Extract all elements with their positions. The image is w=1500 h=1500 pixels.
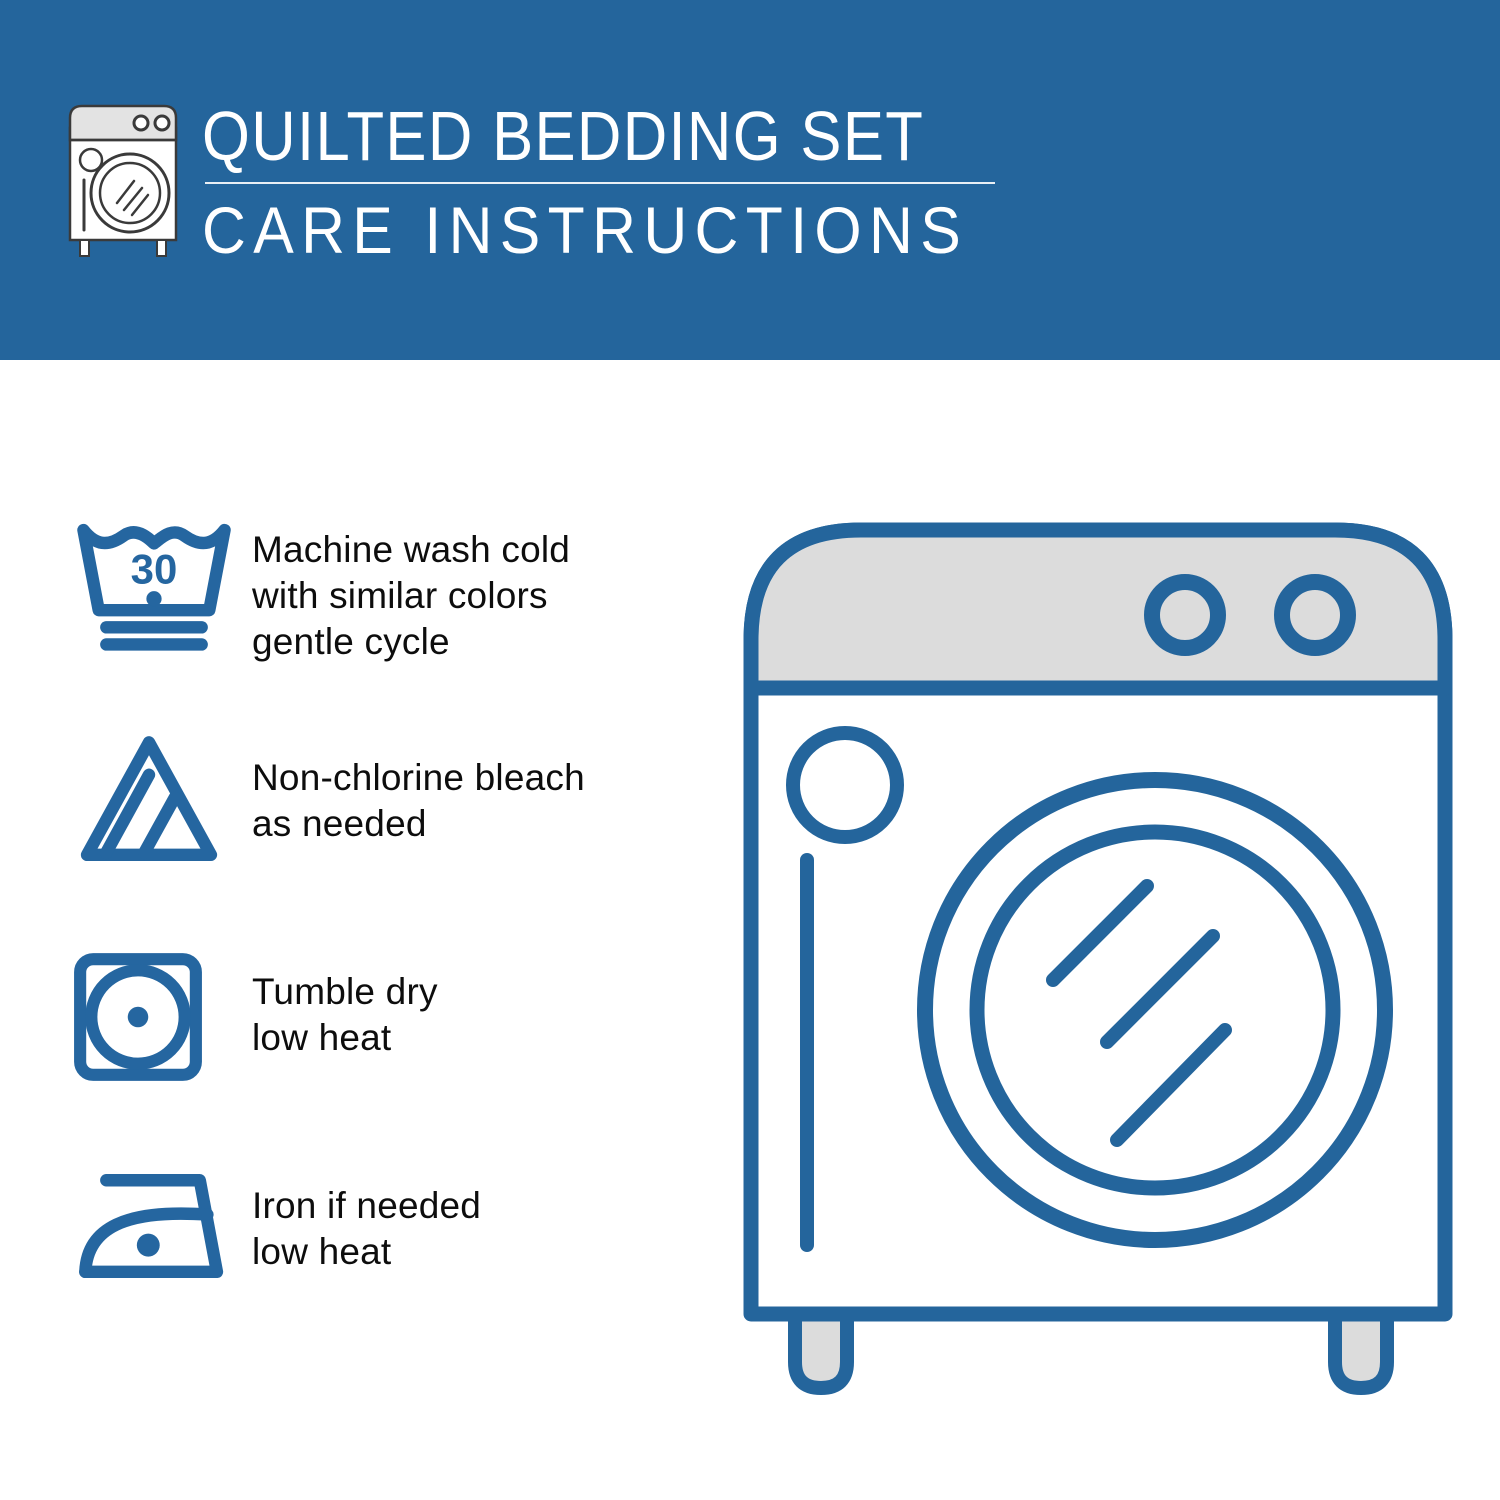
label-line: Non-chlorine bleach bbox=[252, 755, 585, 801]
care-instruction-list: 30 Machine wash cold with similar colors… bbox=[68, 505, 708, 1377]
detergent-port bbox=[793, 733, 897, 837]
washing-machine-icon bbox=[62, 96, 184, 264]
label-line: low heat bbox=[252, 1015, 438, 1061]
list-item: 30 Machine wash cold with similar colors… bbox=[68, 505, 708, 723]
non-chlorine-bleach-triangle-icon bbox=[68, 723, 246, 872]
header-banner: QUILTED BEDDING SET CARE INSTRUCTIONS bbox=[0, 0, 1500, 360]
wash-tub-30-icon: 30 bbox=[68, 505, 246, 654]
title-divider bbox=[205, 182, 995, 184]
tumble-dry-low-icon bbox=[68, 941, 246, 1087]
list-item-label: Machine wash cold with similar colors ge… bbox=[246, 505, 570, 665]
control-knob bbox=[1282, 582, 1348, 648]
header-title-group: QUILTED BEDDING SET CARE INSTRUCTIONS bbox=[202, 96, 1035, 266]
label-line: Machine wash cold bbox=[252, 527, 570, 573]
label-line: low heat bbox=[252, 1229, 481, 1275]
label-line: Iron if needed bbox=[252, 1183, 481, 1229]
wash-temperature-label: 30 bbox=[131, 545, 178, 592]
list-item-label: Iron if needed low heat bbox=[246, 1159, 481, 1275]
label-line: gentle cycle bbox=[252, 619, 570, 665]
iron-low-heat-icon bbox=[68, 1159, 246, 1289]
washing-machine-illustration bbox=[735, 490, 1465, 1420]
list-item: Iron if needed low heat bbox=[68, 1159, 708, 1377]
page-subtitle: CARE INSTRUCTIONS bbox=[202, 194, 968, 266]
header-content: QUILTED BEDDING SET CARE INSTRUCTIONS bbox=[62, 96, 1035, 266]
label-line: with similar colors bbox=[252, 573, 570, 619]
list-item: Tumble dry low heat bbox=[68, 941, 708, 1159]
list-item-label: Non-chlorine bleach as needed bbox=[246, 723, 585, 847]
list-item-label: Tumble dry low heat bbox=[246, 941, 438, 1061]
label-line: Tumble dry bbox=[252, 969, 438, 1015]
control-knob bbox=[1152, 582, 1218, 648]
label-line: as needed bbox=[252, 801, 585, 847]
page-title: QUILTED BEDDING SET bbox=[202, 98, 935, 174]
list-item: Non-chlorine bleach as needed bbox=[68, 723, 708, 941]
